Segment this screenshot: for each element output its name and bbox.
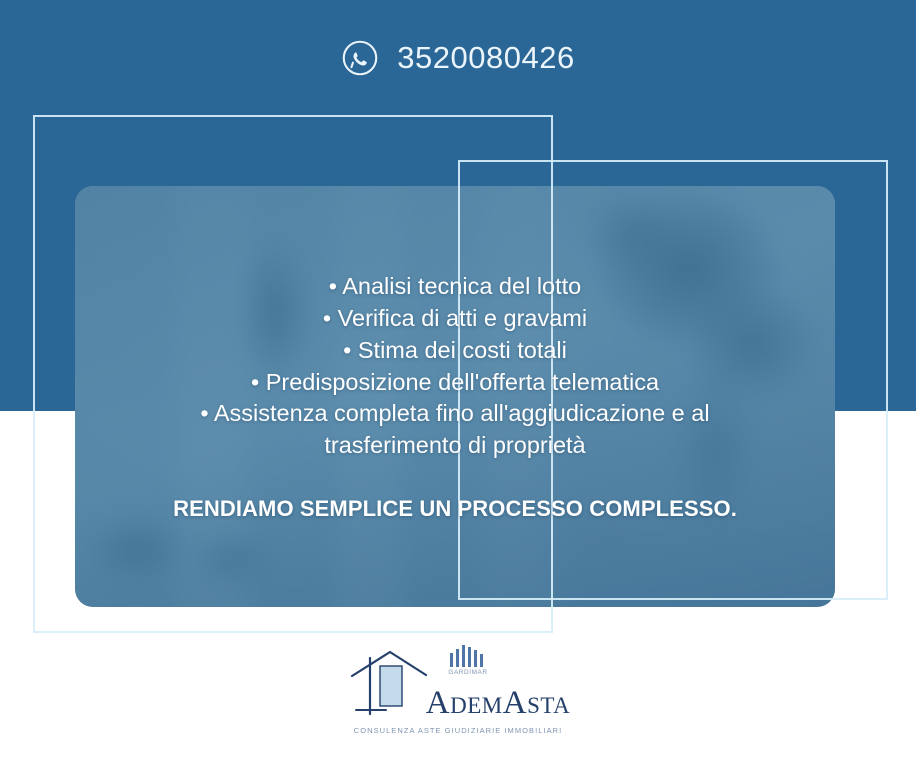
list-item: • Analisi tecnica del lotto [155, 271, 755, 303]
tagline: RENDIAMO SEMPLICE UN PROCESSO COMPLESSO. [173, 496, 737, 522]
logo-text-column: GARDIMAR AdemAsta [426, 687, 570, 720]
service-card: • Analisi tecnica del lotto • Verifica d… [75, 186, 835, 607]
phone-number[interactable]: 3520080426 [397, 42, 574, 73]
footer-logo[interactable]: GARDIMAR AdemAsta CONSULENZA ASTE GIUDIZ… [0, 648, 916, 735]
brand-name: AdemAsta [426, 687, 570, 720]
list-item: • Stima dei costi totali [155, 335, 755, 367]
list-item: • Assistenza completa fino all'aggiudica… [155, 398, 755, 462]
logo-row: GARDIMAR AdemAsta [346, 648, 570, 720]
header: 3520080426 [0, 0, 916, 115]
whatsapp-icon[interactable] [341, 39, 379, 77]
svg-text:GARDIMAR: GARDIMAR [448, 669, 487, 675]
poster-canvas: 3520080426 • Analisi tecnica del lotto •… [0, 0, 916, 768]
brand-tagline: CONSULENZA ASTE GIUDIZIARIE IMMOBILIARI [0, 726, 916, 735]
list-item: • Verifica di atti e gravami [155, 303, 755, 335]
crown-building-icon: GARDIMAR [440, 641, 496, 675]
house-outline-icon [346, 648, 432, 720]
service-list: • Analisi tecnica del lotto • Verifica d… [155, 271, 755, 463]
list-item: • Predisposizione dell'offerta telematic… [155, 367, 755, 399]
